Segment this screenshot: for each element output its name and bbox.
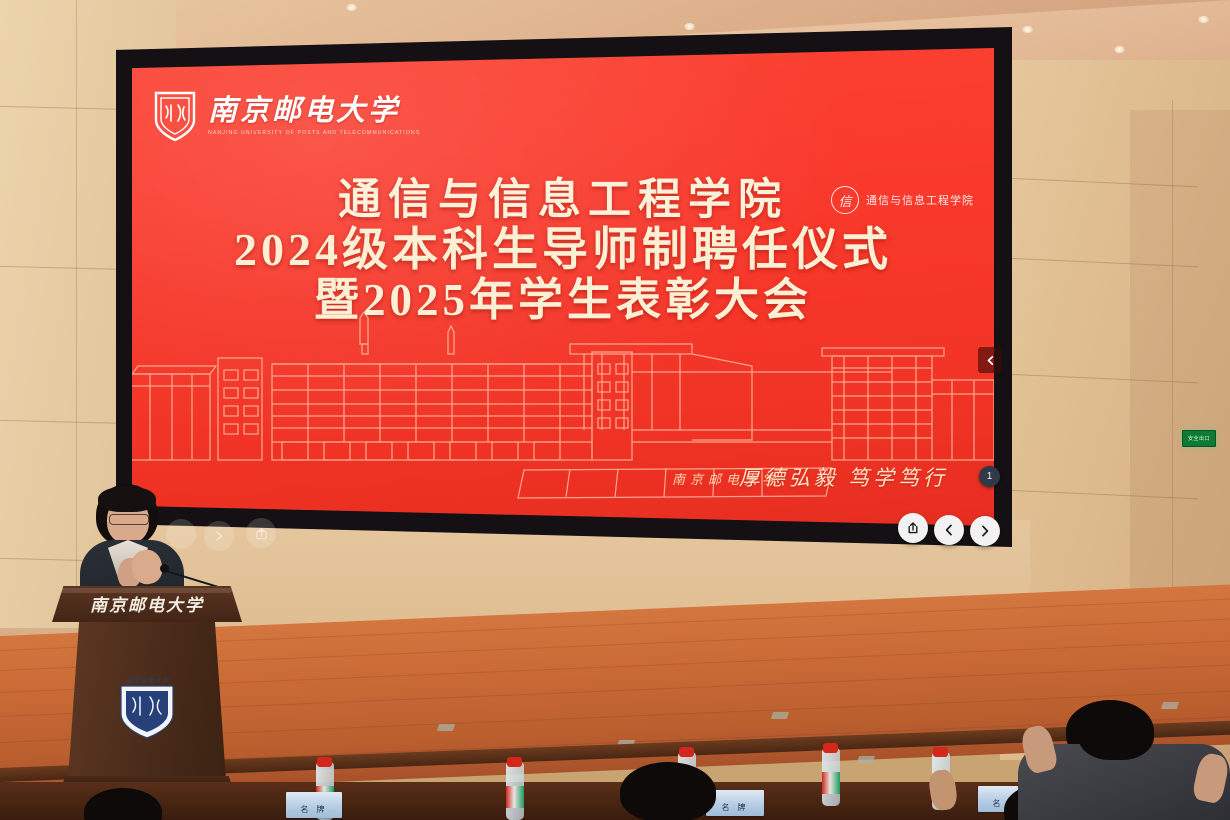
bottle-cap [317,757,332,767]
previous-button[interactable] [934,515,964,545]
motto-calligraphy: 厚德弘毅 笃学笃行 [739,462,948,492]
event-title-block: 通信与信息工程学院 2024级本科生导师制聘任仪式 暨2025年学生表彰大会 [132,176,994,327]
title-line-1: 通信与信息工程学院 [132,176,994,226]
njupt-shield-logo [154,90,196,142]
bottle-cap [933,747,948,757]
name-card: 名 牌 [286,792,342,818]
microphone-head [160,564,169,573]
speaker-hair-front [98,486,156,512]
bottle-cap [823,743,838,753]
page-number-badge: 1 [979,466,1000,487]
bottle-label [506,786,524,808]
njupt-crest-plaque: 南京邮电大学 [118,674,176,742]
floor-socket [1161,702,1179,709]
downlight [1198,16,1209,23]
ghost-next-button[interactable] [204,521,234,551]
bottle-cap [507,757,522,767]
university-name-en: NANJING UNIVERSITY OF POSTS AND TELECOMM… [208,130,420,136]
share-button[interactable] [898,513,928,543]
share-icon [906,521,920,535]
speaker-glasses [109,514,149,525]
downlight [684,23,695,30]
title-line-2: 2024级本科生导师制聘任仪式 [132,224,994,276]
chevron-left-icon [985,355,996,366]
ghost-share-button[interactable] [246,518,276,548]
downlight [346,4,357,11]
next-button[interactable] [970,516,1000,546]
led-screen: 南京邮电大学 NANJING UNIVERSITY OF POSTS AND T… [132,48,994,526]
floor-socket [771,712,789,719]
exit-sign: 安全出口 [1182,430,1216,447]
university-logo-lockup: 南京邮电大学 NANJING UNIVERSITY OF POSTS AND T… [154,90,420,142]
podium: 南京邮电大学 南京邮电大学 [52,586,242,798]
collapse-panel-tab[interactable] [978,347,1002,373]
chevron-right-icon [978,524,992,538]
podium-university-name: 南京邮电大学 [52,591,242,616]
audience-head [620,762,716,820]
bottle-label [822,772,840,794]
floor-socket [857,756,875,763]
university-name-cn: 南京邮电大学 [208,97,420,126]
chevron-left-icon [942,523,956,537]
bottle-cap [679,747,694,757]
svg-text:南京邮电大学: 南京邮电大学 [126,677,169,685]
downlight [1022,26,1033,33]
wall-seam-vertical [1172,100,1173,660]
audience-head [1078,704,1154,760]
auditorium-scene: 安全出口 南京邮电大学 NANJING UNIVERSITY OF POSTS … [0,0,1230,820]
downlight [1114,46,1125,53]
floor-socket [437,724,455,731]
